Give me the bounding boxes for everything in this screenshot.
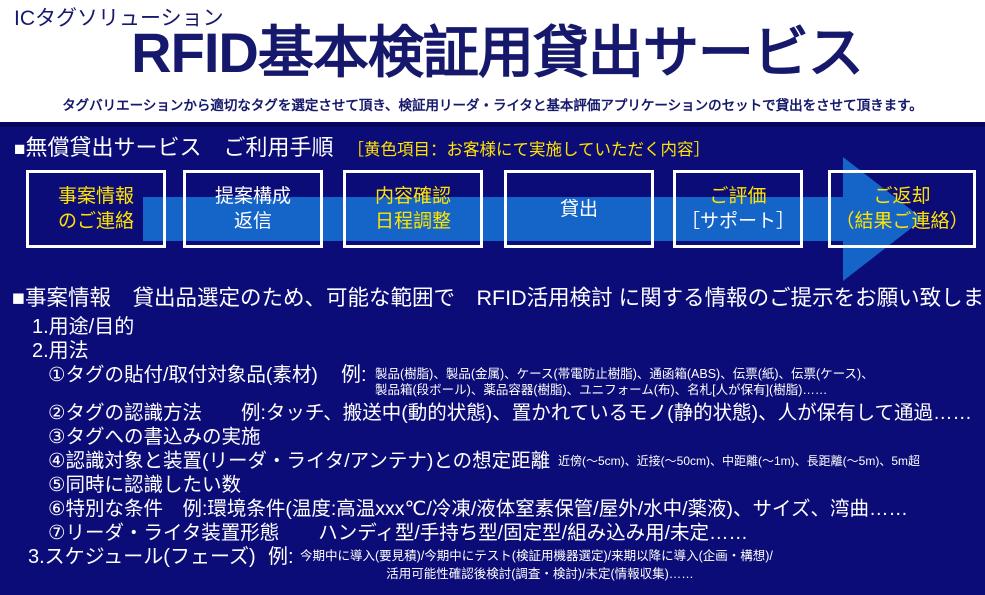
- list-item-2-4-note: 近傍(〜5cm)、近接(〜50cm)、中距離(〜1m)、長距離(〜5m)、5m超: [558, 452, 920, 469]
- list-item-2-1-example-label: 例:: [341, 358, 367, 387]
- header-subtitle: タグバリエーションから適切なタグを選定させて頂き、検証用リーダ・ライタと基本評価…: [0, 94, 985, 114]
- flow-step-6[interactable]: ご返却 （結果ご連絡）: [828, 170, 976, 248]
- list-item-2-1-label: ①タグの貼付/取付対象品(素材): [48, 358, 318, 387]
- flow-step-2[interactable]: 提案構成 返信: [183, 170, 323, 248]
- list-item-3-example-line-2: 活用可能性確認後検討(調査・検討)/未定(情報収集)……: [190, 563, 890, 582]
- page-title: RFID基本検証用貸出サービス: [22, 20, 972, 86]
- section2-bullet-icon: ■: [12, 286, 25, 310]
- flow-step-3-line-2: 日程調整: [375, 209, 451, 234]
- flow-step-1[interactable]: 事案情報 のご連絡: [26, 170, 166, 248]
- section1-note: ［黄色項目：お客様にて実施していただく内容］: [348, 141, 711, 159]
- flow-step-5[interactable]: ご評価 ［サポート］: [673, 170, 803, 248]
- slide-root: ICタグソリューション RFID基本検証用貸出サービス タグバリエーションから適…: [0, 0, 985, 595]
- slide-header: ICタグソリューション RFID基本検証用貸出サービス タグバリエーションから適…: [0, 0, 985, 122]
- flow-step-6-line-2: （結果ご連絡）: [835, 209, 968, 234]
- list-item-3-example-line-1: 今期中に導入(要見積)/今期中にテスト(検証用機器選定)/来期以降に導入(企画・…: [300, 545, 773, 564]
- section1-heading-row: ■無償貸出サービス ご利用手順［黄色項目：お客様にて実施していただく内容］: [14, 130, 710, 162]
- flow-step-5-line-2: ［サポート］: [681, 209, 795, 234]
- flow-step-1-line-1: 事案情報: [58, 184, 134, 209]
- section1-heading: 無償貸出サービス ご利用手順: [25, 135, 333, 160]
- section2-heading-row: ■事案情報 貸出品選定のため、可能な範囲で RFID活用検討 に関する情報のご提…: [12, 281, 985, 312]
- header-divider: [0, 122, 985, 127]
- flow-step-2-line-1: 提案構成: [215, 184, 291, 209]
- flow-step-4[interactable]: 貸出: [504, 170, 654, 248]
- flow-step-4-line-1: 貸出: [560, 197, 598, 222]
- section1-bullet-icon: ■: [14, 139, 25, 160]
- section2-heading: 事案情報 貸出品選定のため、可能な範囲で RFID活用検討 に関する情報のご提示…: [25, 286, 985, 310]
- flow-step-1-line-2: のご連絡: [58, 209, 134, 234]
- flow-step-6-line-1: ご返却: [835, 184, 968, 209]
- flow-step-5-line-1: ご評価: [681, 184, 795, 209]
- flow-step-2-line-2: 返信: [215, 209, 291, 234]
- flow-step-3-line-1: 内容確認: [375, 184, 451, 209]
- flow-step-3[interactable]: 内容確認 日程調整: [343, 170, 483, 248]
